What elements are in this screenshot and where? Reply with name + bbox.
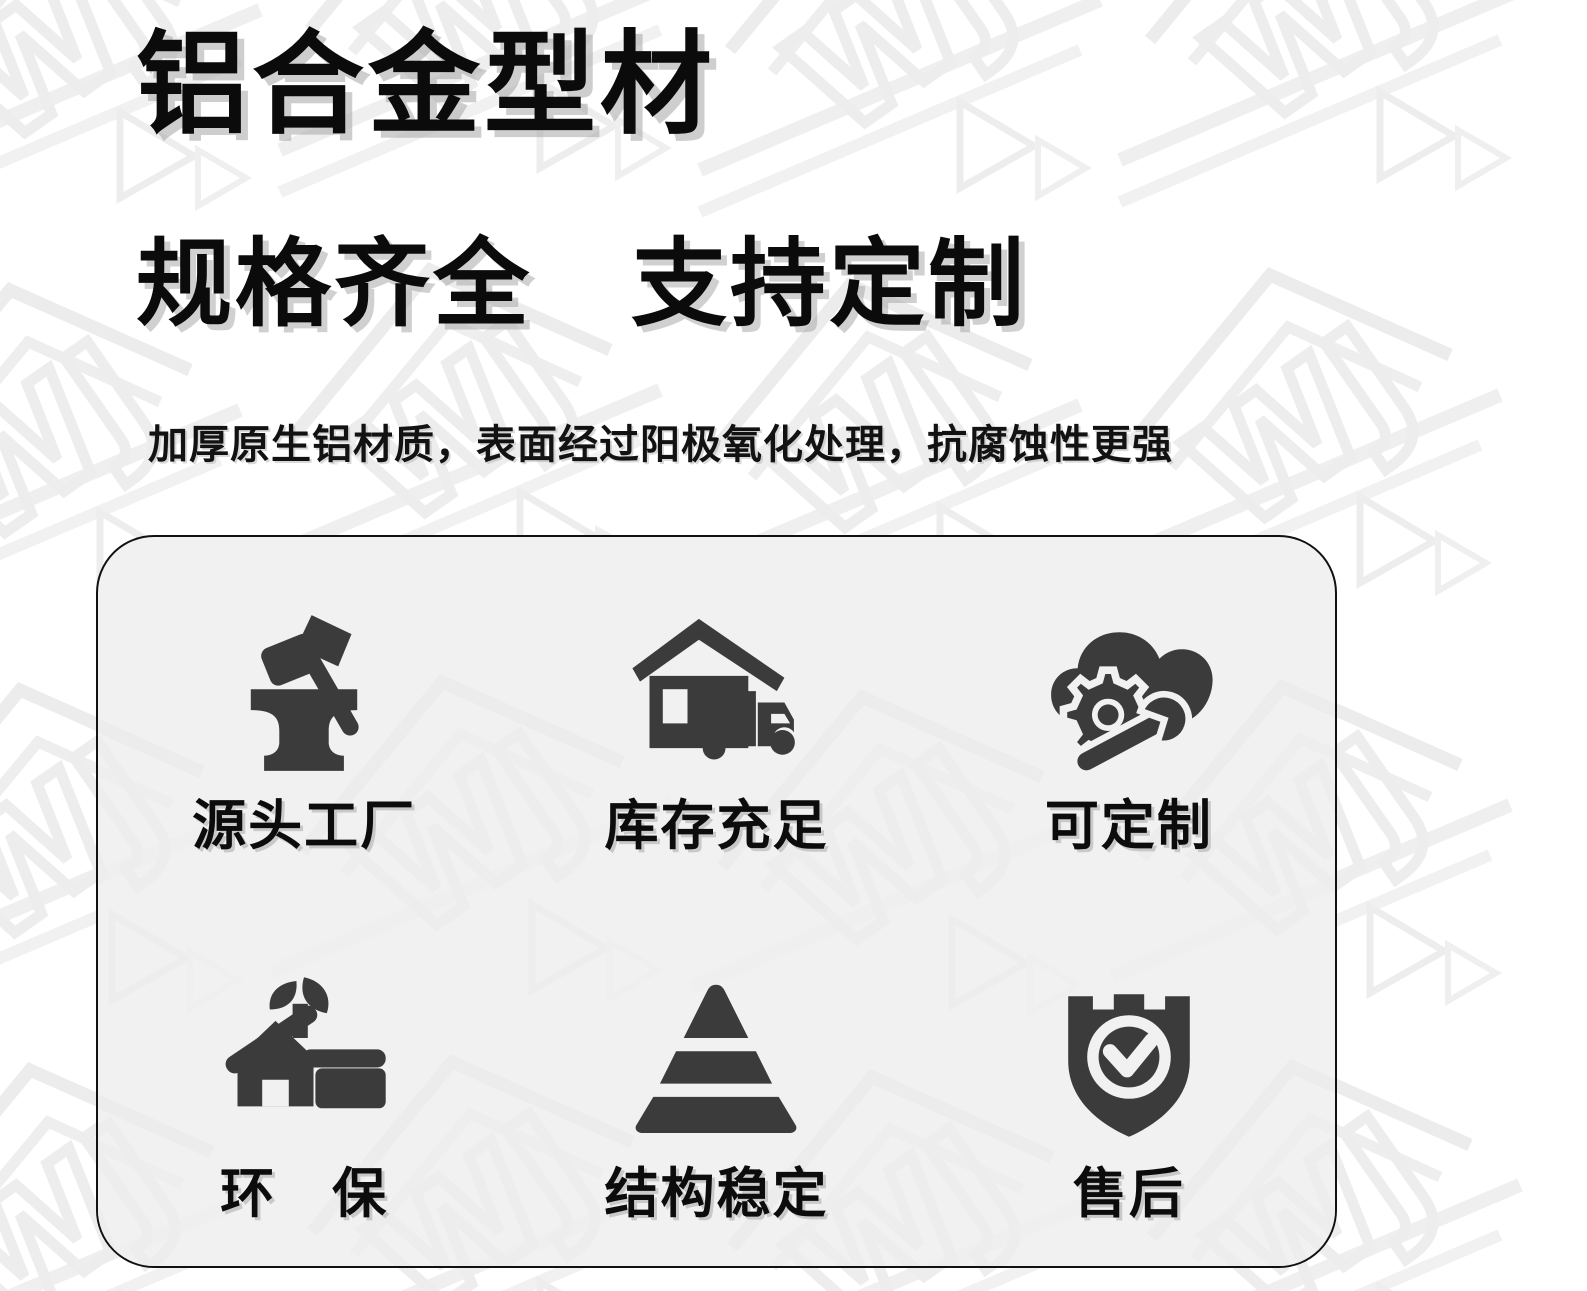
layered-pyramid-icon [621,957,811,1157]
feature-card: 源头工厂 [96,535,1337,1268]
page-subtitle: 规格齐全 支持定制 [136,232,1027,338]
feature-item-customizable[interactable]: 可定制 [923,537,1335,902]
feature-label: 结构稳定 [604,1167,828,1221]
warehouse-truck-icon [621,593,811,793]
feature-item-after-sales[interactable]: 售后 [923,902,1335,1267]
feature-label: 源头工厂 [192,799,416,853]
eco-house-leaf-icon [209,957,399,1157]
feature-item-stable-structure[interactable]: 结构稳定 [510,902,922,1267]
page-title: 铝合金型材 [136,26,716,145]
feature-item-eco[interactable]: 环 保 [98,902,510,1267]
shield-check-icon [1034,957,1224,1157]
feature-item-stock[interactable]: 库存充足 [510,537,922,902]
feature-item-source-factory[interactable]: 源头工厂 [98,537,510,902]
hammer-anvil-icon [209,593,399,793]
product-banner-page: WJ 铝合金型材 规格齐全 支持定制 加厚原 [0,0,1587,1291]
page-description: 加厚原生铝材质，表面经过阳极氧化处理，抗腐蚀性更强 [148,412,1173,470]
feature-label: 可定制 [1045,799,1213,853]
feature-label: 环 保 [220,1167,388,1221]
feature-label: 售后 [1073,1167,1185,1221]
feature-grid: 源头工厂 [98,537,1335,1266]
feature-label: 库存充足 [604,799,828,853]
cloud-gear-wrench-icon [1034,593,1224,793]
